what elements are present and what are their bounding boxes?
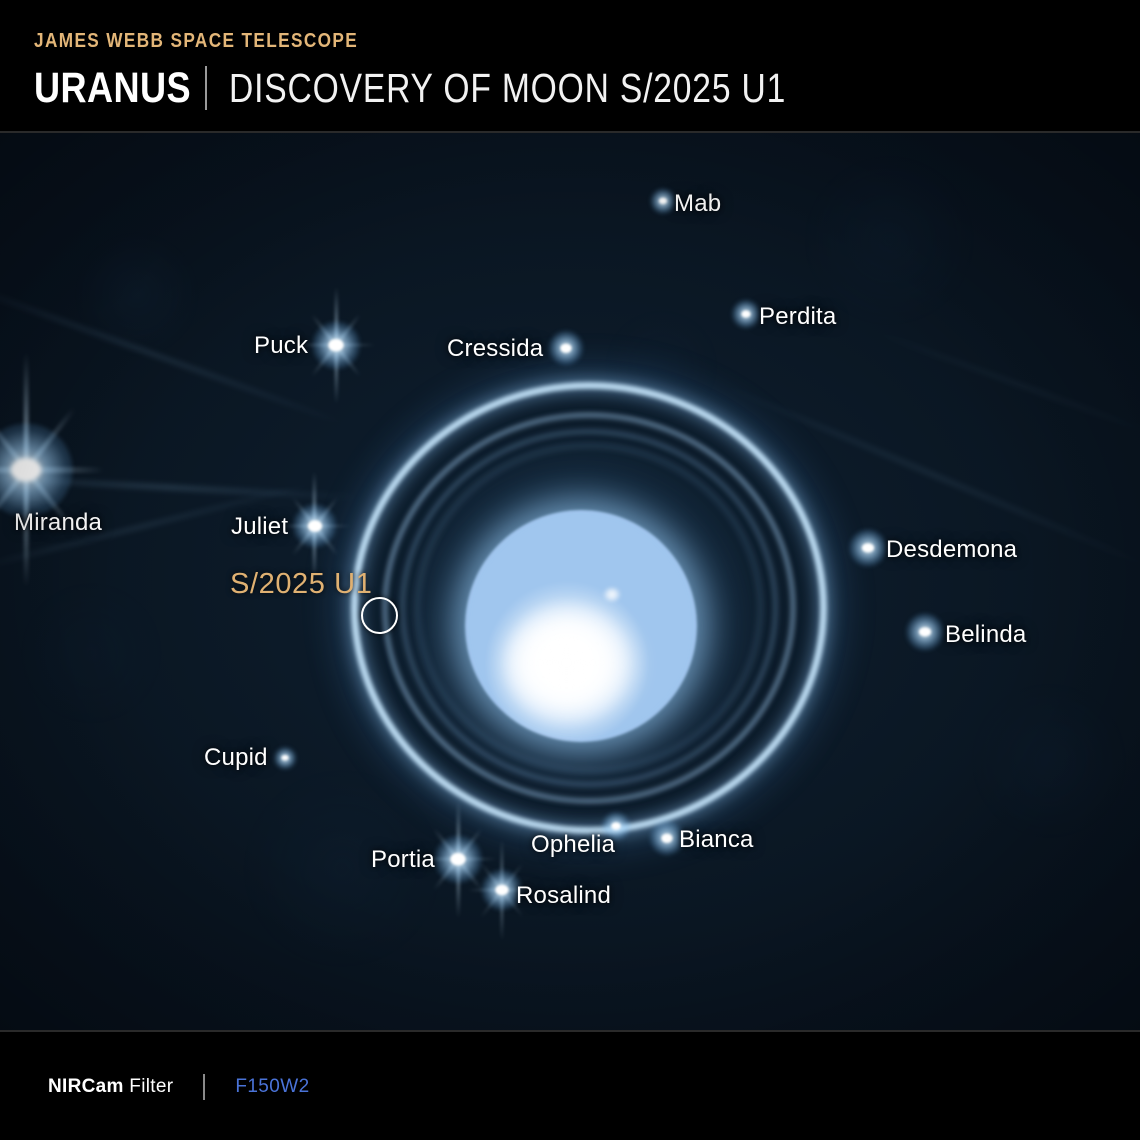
moon-glow — [651, 189, 676, 214]
instrument-label: NIRCam Filter — [48, 1076, 173, 1098]
moon-label-cressida: Cressida — [447, 335, 543, 363]
moon-point-source — [561, 344, 572, 353]
moon-glow — [849, 529, 886, 566]
moon-glow — [0, 424, 73, 517]
moon-label-belinda: Belinda — [945, 621, 1026, 649]
moon-label-rosalind: Rosalind — [516, 882, 611, 910]
diffraction-spike — [314, 471, 317, 580]
moon-glow — [906, 613, 943, 650]
moon-label-perdita: Perdita — [759, 303, 836, 331]
diffraction-spike — [433, 827, 483, 890]
diffraction-spike — [335, 287, 338, 404]
moon-label-bianca: Bianca — [679, 826, 754, 854]
filter-divider — [203, 1074, 205, 1100]
moon-glow — [313, 322, 360, 369]
header-bar: JAMES WEBB SPACE TELESCOPE URANUS DISCOV… — [0, 0, 1140, 133]
moon-glow — [293, 504, 336, 547]
moon-point-source — [11, 458, 41, 481]
footer-rule — [0, 1030, 1140, 1032]
diffraction-spike — [501, 839, 503, 940]
diffraction-spike — [23, 353, 28, 587]
telescope-image: MabPerditaPuckCressidaMirandaJulietDesde… — [0, 133, 1140, 1030]
diffraction-spike — [433, 827, 483, 890]
moon-point-source — [451, 853, 466, 865]
moon-label-cupid: Cupid — [204, 744, 268, 772]
moon-point-source — [662, 834, 673, 843]
moon-label-desdemona: Desdemona — [886, 536, 1017, 564]
moon-label-mab: Mab — [674, 190, 721, 218]
moon-glow — [274, 747, 296, 769]
instrument-name: NIRCam — [48, 1076, 124, 1097]
moon-label-miranda: Miranda — [14, 509, 102, 537]
instrument-suffix: Filter — [124, 1076, 174, 1097]
page-subtitle: DISCOVERY OF MOON S/2025 U1 — [229, 68, 786, 109]
moon-point-source — [282, 755, 289, 760]
moon-point-source — [496, 885, 509, 895]
diffraction-spike — [279, 525, 352, 528]
diffraction-streak-horizontal — [0, 475, 360, 500]
title-row: URANUS DISCOVERY OF MOON S/2025 U1 — [34, 62, 908, 114]
moon-label-puck: Puck — [254, 332, 308, 360]
diffraction-spike — [297, 344, 375, 347]
diffraction-spike — [311, 313, 361, 376]
moon-point-source — [862, 543, 874, 552]
observatory-name: JAMES WEBB SPACE TELESCOPE — [34, 30, 358, 53]
moon-point-source — [308, 521, 322, 532]
moon-point-source — [659, 198, 667, 204]
moon-glow — [435, 836, 482, 883]
moon-mab — [563, 133, 763, 301]
diffraction-spike — [0, 467, 104, 472]
moon-label-juliet: Juliet — [231, 513, 288, 541]
moon-label-ophelia: Ophelia — [531, 831, 615, 859]
filter-value: F150W2 — [235, 1076, 309, 1098]
footer-bar: NIRCam Filter F150W2 — [0, 1030, 1140, 1140]
discovery-label: S/2025 U1 — [230, 568, 372, 601]
title-divider — [205, 66, 207, 110]
uranus-polar-cap — [503, 607, 641, 723]
moon-point-source — [919, 627, 931, 636]
moon-point-source — [742, 310, 751, 317]
jwst-uranus-image: JAMES WEBB SPACE TELESCOPE URANUS DISCOV… — [0, 0, 1140, 1140]
discovery-circle-marker[interactable] — [361, 597, 398, 634]
moon-glow — [549, 331, 583, 365]
diffraction-streak-far-right — [869, 328, 1140, 441]
filter-info: NIRCam Filter F150W2 — [48, 1074, 310, 1100]
diffraction-spike — [292, 497, 339, 556]
uranus-bright-spot — [604, 588, 620, 601]
uranus-ring-system — [358, 389, 820, 827]
moon-miranda — [0, 370, 126, 570]
moon-point-source — [329, 339, 344, 351]
moon-glow — [732, 300, 760, 328]
diffraction-spike — [292, 497, 339, 556]
page-title: URANUS — [34, 67, 191, 110]
moon-label-portia: Portia — [371, 846, 435, 874]
diffraction-spike — [311, 313, 361, 376]
